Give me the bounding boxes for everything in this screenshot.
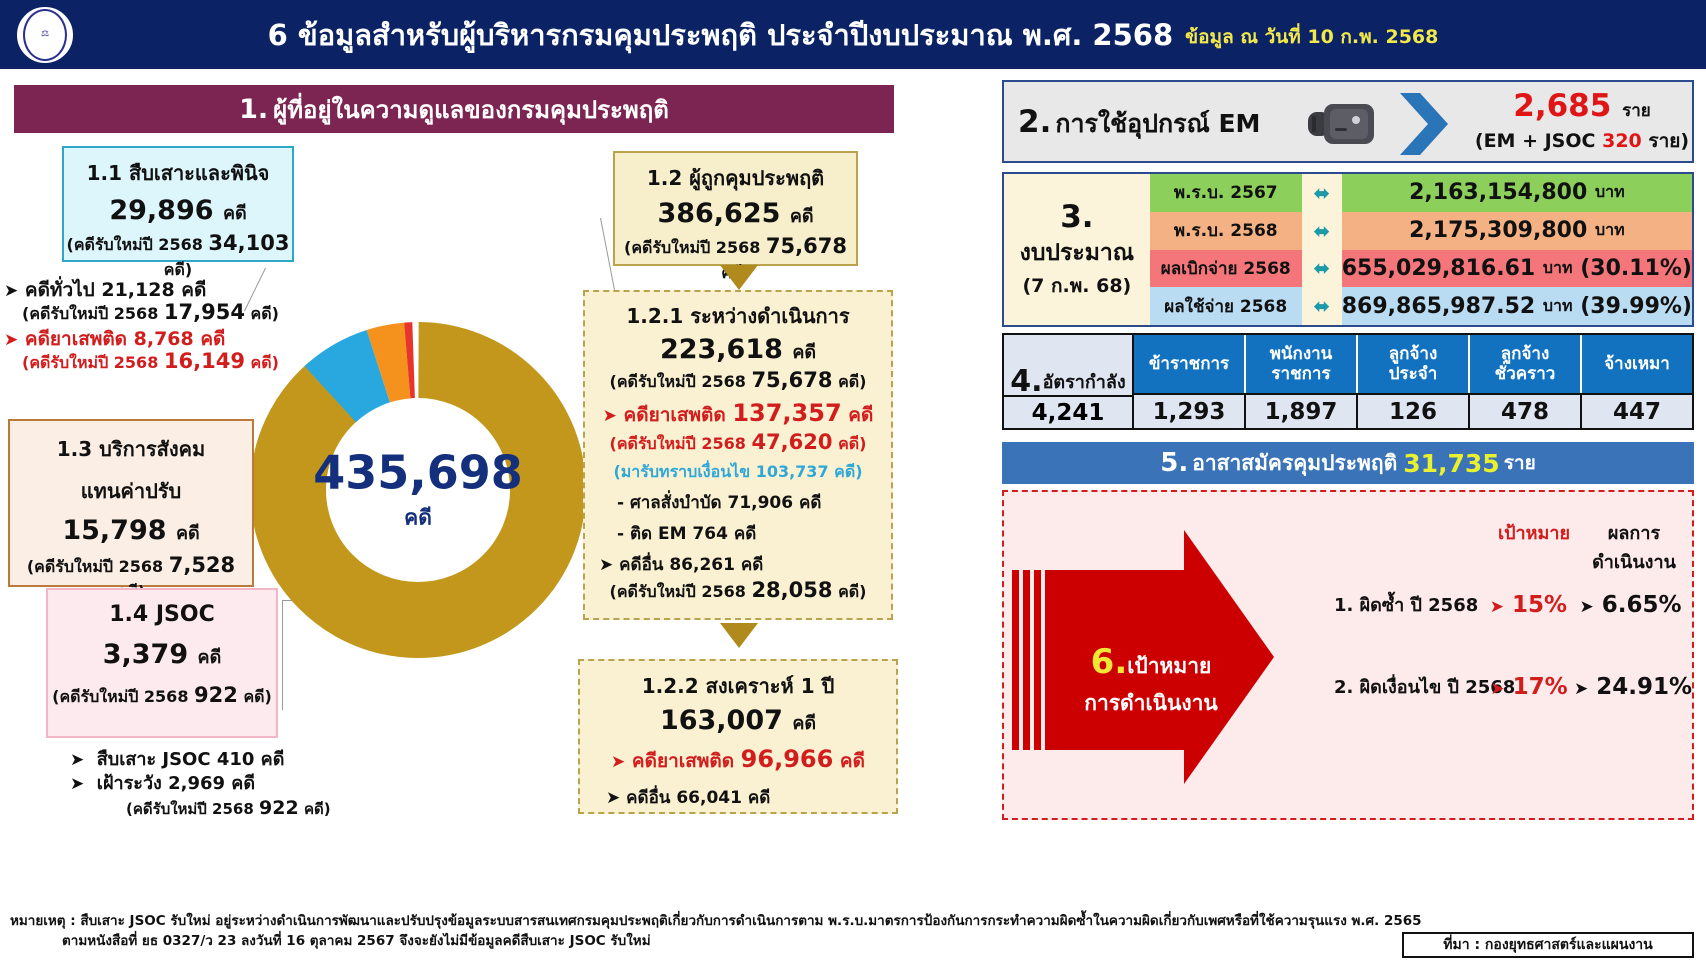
section4-header-row: ข้าราชการ พนักงาน ราชการ ลูกจ้าง ประจำ ล… (1134, 335, 1692, 393)
box-1-2-number: 386,625 (657, 198, 780, 229)
section4-values-row: 1,293 1,897 126 478 447 (1134, 393, 1692, 428)
footer-note-line-1: หมายเหตุ : สืบเสาะ JSOC รับใหม่ อยู่ระหว… (10, 912, 1430, 932)
box-1-2-2-number: 163,007 (660, 705, 783, 736)
arrow-right-red-icon: ➤ (1490, 679, 1504, 699)
section2-subvalue-row: (EM + JSOC 320 ราย) (1470, 126, 1694, 156)
header-line-1: ลูกจ้าง (1501, 344, 1550, 364)
box-1-2-2-title: 1.2.2 สงเคราะห์ 1 ปี (580, 670, 896, 702)
double-arrow-icon: ⬌ (1302, 181, 1342, 205)
staff-value-temporary-worker: 478 (1470, 395, 1582, 428)
section2-em-device: 2. การใช้อุปกรณ์ EM 2,685 ราย (1002, 80, 1694, 163)
box-1-1-investigation: 1.1 สืบเสาะและพินิจ 29,896 คดี (คดีรับให… (62, 146, 294, 262)
kpi-name: 2. ผิดเงื่อนไข ปี 2568 (1334, 672, 1484, 701)
kpi-row-recidivism: 1. ผิดซ้ำ ปี 2568 ➤ 15% ➤ 6.65% (1334, 590, 1684, 619)
box-1-2-note-prefix: (คดีรับใหม่ปี 2568 (624, 238, 760, 257)
budget-row-name: พ.ร.บ. 2567 (1150, 174, 1302, 212)
page-title: 6 ข้อมูลสำหรับผู้บริหารกรมคุมประพฤติ ประ… (268, 12, 1174, 58)
bullet-jsoc-note-suffix: คดี) (304, 800, 331, 818)
staff-total-value: 4,241 (1004, 395, 1134, 428)
arrow-right-red-icon: ➤ (4, 330, 18, 350)
section2-number: 2. (1018, 104, 1051, 140)
arrow-right-icon: ➤ (599, 555, 613, 575)
box-1-1-unit: คดี (223, 203, 247, 224)
box-1-1-title: 1.1 สืบเสาะและพินิจ (64, 157, 292, 189)
arrow-right-icon: ➤ (606, 788, 620, 808)
box-1-2-2-drug-label: คดียาเสพติด (632, 750, 734, 772)
section6-targets: 6.เป้าหมาย การดำเนินงาน เป้าหมาย ผลการดำ… (1002, 490, 1694, 820)
box-1-4-note-value: 922 (194, 683, 238, 707)
staff-col-header-permanent-worker: ลูกจ้าง ประจำ (1358, 335, 1470, 393)
kpi-result-value: 6.65% (1602, 592, 1682, 618)
section6-number: 6. (1091, 642, 1128, 682)
kpi-target-value: 17% (1513, 674, 1568, 700)
infographic-root: ⚖ 6 ข้อมูลสำหรับผู้บริหารกรมคุมประพฤติ ป… (0, 0, 1706, 960)
section3-title: งบประมาณ (1020, 235, 1135, 271)
bullet-drug-note-suffix: คดี) (251, 353, 279, 372)
box-1-2-1-other-note: (คดีรับใหม่ปี 2568 28,058 คดี) (591, 578, 885, 605)
box-1-1-note-prefix: (คดีรับใหม่ปี 2568 (67, 235, 203, 254)
budget-percent: (39.99%) (1580, 294, 1692, 319)
budget-amount: 869,865,987.52 (1342, 294, 1535, 319)
staff-value-outsourced: 447 (1582, 395, 1692, 428)
header-line-2: ราชการ (1271, 364, 1330, 384)
section2-title: การใช้อุปกรณ์ EM (1055, 104, 1260, 144)
box-1-2-1-other-note-value: 28,058 (751, 578, 832, 602)
kpi-result-value: 24.91% (1596, 674, 1692, 700)
box-1-1-number: 29,896 (109, 195, 213, 226)
kpi-header-target: เป้าหมาย (1484, 518, 1584, 576)
box-1-2-unit: คดี (790, 206, 814, 227)
box-1-2-1-drug-value: 137,357 (732, 399, 841, 427)
box-1-2-2-drug-value: 96,966 (741, 745, 834, 773)
table-row: ผลเบิกจ่าย 2568 ⬌ 655,029,816.61 บาท (30… (1150, 250, 1692, 288)
bullet-jsoc-note-value: 922 (259, 797, 299, 819)
box-1-4-jsoc: 1.4 JSOC 3,379 คดี (คดีรับใหม่ปี 2568 92… (46, 588, 278, 738)
bullet-jsoc-investigation-label: สืบเสาะ JSOC 410 คดี (97, 749, 285, 770)
section2-unit: ราย (1622, 101, 1651, 121)
box-1-2-1-drug-label: คดียาเสพติด (624, 404, 726, 426)
header-line-2: ประจำ (1389, 364, 1438, 384)
box-1-2-1-unit: คดี (792, 342, 816, 363)
box-1-4-title: 1.4 JSOC (48, 602, 276, 627)
box-1-3-value: 15,798 คดี (10, 515, 252, 547)
footer-notes: หมายเหตุ : สืบเสาะ JSOC รับใหม่ อยู่ระหว… (10, 912, 1430, 951)
flow-arrow-down-1 (720, 265, 758, 290)
page-header: ⚖ 6 ข้อมูลสำหรับผู้บริหารกรมคุมประพฤติ ป… (0, 0, 1706, 69)
staff-value-permanent-worker: 126 (1358, 395, 1470, 428)
bullet-drug-note-prefix: (คดีรับใหม่ปี 2568 (22, 353, 158, 372)
table-row: พ.ร.บ. 2567 ⬌ 2,163,154,800 บาท (1150, 174, 1692, 212)
box-1-2-note-value: 75,678 (766, 234, 847, 258)
budget-row-name: ผลเบิกจ่าย 2568 (1150, 250, 1302, 288)
budget-unit: บาท (1543, 294, 1573, 319)
section2-value-group: 2,685 ราย (EM + JSOC 320 ราย) (1470, 88, 1694, 156)
box-1-2-1-drug-note-prefix: (คดีรับใหม่ปี 2568 (610, 434, 746, 453)
bullet-jsoc-note-prefix: (คดีรับใหม่ปี 2568 (126, 800, 254, 818)
bullet-general-note-suffix: คดี) (251, 304, 279, 323)
table-row: ผลใช้จ่าย 2568 ⬌ 869,865,987.52 บาท (39.… (1150, 287, 1692, 325)
budget-row-name: พ.ร.บ. 2568 (1150, 212, 1302, 250)
box-1-2-1-in-progress: 1.2.1 ระหว่างดำเนินการ 223,618 คดี (คดีร… (583, 290, 893, 620)
section4-number: 4. (1010, 364, 1042, 399)
arrow-right-red-icon: ➤ (1490, 597, 1504, 617)
donut-center-label: 435,698 คดี (308, 446, 528, 535)
section6-title-2: การดำเนินงาน (1056, 687, 1246, 720)
kpi-result-cell: ➤ 24.91% (1574, 674, 1684, 700)
box-1-2-1-drug-note-value: 47,620 (751, 430, 832, 454)
box-1-2-value: 386,625 คดี (615, 198, 856, 230)
box-1-2-1-note: (คดีรับใหม่ปี 2568 75,678 คดี) (591, 368, 885, 395)
box-1-2-1-drug-note-suffix: คดี) (838, 434, 866, 453)
box-1-1-note: (คดีรับใหม่ปี 2568 34,103 คดี) (64, 231, 292, 283)
em-bracelet-icon (1304, 100, 1390, 148)
budget-row-amount-cell: 2,175,309,800 บาท (1342, 212, 1692, 250)
box-1-4-note: (คดีรับใหม่ปี 2568 922 คดี) (48, 683, 276, 710)
bullet-jsoc-monitoring-note: (คดีรับใหม่ปี 2568 922 คดี) (70, 797, 400, 821)
double-arrow-icon: ⬌ (1302, 256, 1342, 280)
section1-title: ผู้ที่อยู่ในความดูแลของกรมคุมประพฤติ (273, 90, 669, 129)
box-1-4-value: 3,379 คดี (48, 639, 276, 671)
box-1-2-1-subitem-court-treatment: - ศาลสั่งบำบัด 71,906 คดี (591, 489, 885, 516)
data-as-of-date: ข้อมูล ณ วันที่ 10 ก.พ. 2568 (1185, 17, 1438, 52)
box-1-2-1-other-row: ➤ คดีอื่น 86,261 คดี (591, 551, 885, 578)
box-1-2-2-welfare: 1.2.2 สงเคราะห์ 1 ปี 163,007 คดี ➤ คดียา… (578, 659, 898, 814)
section2-title-group: 2. การใช้อุปกรณ์ EM (1018, 104, 1260, 144)
section3-date: (7 ก.พ. 68) (1023, 271, 1132, 301)
kpi-result-cell: ➤ 6.65% (1577, 592, 1684, 618)
section3-label-group: 3. งบประมาณ (7 ก.พ. 68) (1004, 174, 1150, 325)
table-row: พ.ร.บ. 2568 ⬌ 2,175,309,800 บาท (1150, 212, 1692, 250)
section4-title: อัตรากำลัง (1043, 367, 1126, 396)
budget-amount: 2,175,309,800 (1409, 218, 1587, 243)
bullet-general-cases-note: (คดีรับใหม่ปี 2568 17,954 คดี) (4, 301, 304, 325)
section3-number: 3. (1060, 199, 1093, 235)
chevron-right-icon (1396, 91, 1450, 157)
bullet-general-cases-label: คดีทั่วไป 21,128 คดี (25, 279, 206, 301)
box-1-2-title: 1.2 ผู้ถูกคุมประพฤติ (615, 162, 856, 194)
kpi-header-result: ผลการดำเนินงาน (1584, 518, 1684, 576)
arrow-right-icon: ➤ (70, 750, 84, 770)
section2-sub-prefix: (EM + JSOC (1475, 130, 1596, 152)
box-1-3-title-line1: 1.3 บริการสังคม (10, 433, 252, 465)
section3-budget: 3. งบประมาณ (7 ก.พ. 68) พ.ร.บ. 2567 ⬌ 2,… (1002, 172, 1694, 327)
box-1-2-1-other-note-prefix: (คดีรับใหม่ปี 2568 (610, 582, 746, 601)
box-1-1-note-value: 34,103 (208, 231, 289, 255)
arrow-right-icon: ➤ (1574, 679, 1588, 699)
box-1-2-2-drug-row: ➤ คดียาเสพติด 96,966 คดี (580, 745, 896, 776)
section5-title: อาสาสมัครคุมประพฤติ (1192, 447, 1397, 480)
section1-number: 1. (239, 94, 268, 125)
bullet-general-note-value: 17,954 (164, 300, 245, 324)
section2-sub-value: 320 (1602, 130, 1642, 152)
budget-percent: (30.11%) (1580, 256, 1692, 281)
header-line-1: พนักงาน (1270, 344, 1333, 364)
header-line-1: ลูกจ้าง (1389, 344, 1438, 364)
box-1-3-number: 15,798 (62, 515, 166, 546)
kpi-row-condition-violation: 2. ผิดเงื่อนไข ปี 2568 ➤ 17% ➤ 24.91% (1334, 672, 1684, 701)
section6-title-1: เป้าหมาย (1127, 654, 1211, 678)
box-1-3-note-prefix: (คดีรับใหม่ปี 2568 (27, 557, 163, 576)
budget-amount: 655,029,816.61 (1342, 256, 1535, 281)
bullets-investigation-breakdown: ➤ คดีทั่วไป 21,128 คดี (คดีรับใหม่ปี 256… (4, 280, 304, 374)
section3-table: พ.ร.บ. 2567 ⬌ 2,163,154,800 บาท พ.ร.บ. 2… (1150, 174, 1692, 325)
box-1-2-1-number: 223,618 (660, 334, 783, 365)
box-1-2-1-value: 223,618 คดี (591, 334, 885, 366)
box-1-2-1-conditions-line: (มารับทราบเงื่อนไข 103,737 คดี) (591, 460, 885, 485)
bullet-general-cases: ➤ คดีทั่วไป 21,128 คดี (4, 280, 304, 301)
staff-value-civil-servant: 1,293 (1134, 395, 1246, 428)
box-1-2-1-drug-note: (คดีรับใหม่ปี 2568 47,620 คดี) (591, 430, 885, 457)
kpi-target-cell: ➤ 15% (1480, 592, 1577, 618)
staff-value-govt-employee: 1,897 (1246, 395, 1358, 428)
bullet-drug-cases-note: (คดีรับใหม่ปี 2568 16,149 คดี) (4, 350, 304, 374)
kpi-name-spacer (1334, 518, 1484, 576)
box-1-3-title-line2: แทนค่าปรับ (10, 475, 252, 507)
header-title-group: 6 ข้อมูลสำหรับผู้บริหารกรมคุมประพฤติ ประ… (0, 0, 1706, 69)
box-1-2-1-other-note-suffix: คดี) (838, 582, 866, 601)
box-1-1-value: 29,896 คดี (64, 195, 292, 227)
section6-column-headers: เป้าหมาย ผลการดำเนินงาน (1334, 518, 1684, 576)
flow-arrow-down-2 (720, 623, 758, 648)
box-1-3-unit: คดี (176, 523, 200, 544)
arrow-right-icon: ➤ (70, 774, 84, 794)
box-1-2-2-unit: คดี (792, 713, 816, 734)
budget-unit: บาท (1595, 180, 1625, 205)
footer-note-line-2: ตามหนังสือที่ ยธ 0327/ว 23 ลงวันที่ 16 ต… (10, 932, 1430, 952)
box-1-2-1-other-label: คดีอื่น 86,261 คดี (619, 555, 763, 575)
section2-value: 2,685 (1513, 88, 1611, 124)
section2-sub-suffix: ราย) (1648, 130, 1689, 152)
bullet-drug-cases-label: คดียาเสพติด 8,768 คดี (25, 328, 226, 350)
box-1-3-community-service: 1.3 บริการสังคม แทนค่าปรับ 15,798 คดี (ค… (8, 419, 254, 587)
bullet-jsoc-monitoring-label: เฝ้าระวัง 2,969 คดี (97, 773, 255, 794)
box-1-4-note-suffix: คดี) (243, 687, 271, 706)
bullet-general-note-prefix: (คดีรับใหม่ปี 2568 (22, 304, 158, 323)
box-1-4-number: 3,379 (103, 639, 188, 670)
header-line-1: ข้าราชการ (1149, 354, 1229, 374)
section2-value-row: 2,685 ราย (1470, 88, 1694, 124)
bullet-drug-note-value: 16,149 (164, 349, 245, 373)
kpi-target-cell: ➤ 17% (1484, 674, 1574, 700)
budget-row-amount-cell: 869,865,987.52 บาท (39.99%) (1342, 287, 1692, 325)
header-line-2: ชั่วคราว (1495, 364, 1556, 384)
box-1-4-unit: คดี (198, 647, 222, 668)
bullets-jsoc-breakdown: ➤ สืบเสาะ JSOC 410 คดี ➤ เฝ้าระวัง 2,969… (70, 748, 400, 821)
bullet-jsoc-investigation: ➤ สืบเสาะ JSOC 410 คดี (70, 748, 400, 772)
section1-banner: 1. ผู้ที่อยู่ในความดูแลของกรมคุมประพฤติ (14, 85, 894, 133)
donut-total-unit: คดี (308, 502, 528, 535)
staff-col-header-outsourced: จ้างเหมา (1582, 335, 1692, 393)
header-line-1: จ้างเหมา (1604, 354, 1670, 374)
budget-amount: 2,163,154,800 (1409, 180, 1587, 205)
box-1-2-2-other-row: ➤ คดีอื่น 66,041 คดี (580, 784, 896, 811)
kpi-name: 1. ผิดซ้ำ ปี 2568 (1334, 590, 1480, 619)
section6-title-line-1: 6.เป้าหมาย (1056, 642, 1246, 683)
arrow-right-icon: ➤ (1579, 597, 1593, 617)
arrow-right-icon: ➤ (4, 281, 18, 301)
staff-col-header-temporary-worker: ลูกจ้าง ชั่วคราว (1470, 335, 1582, 393)
bullet-jsoc-monitoring: ➤ เฝ้าระวัง 2,969 คดี (70, 772, 400, 796)
box-1-2-1-subitem-em: - ติด EM 764 คดี (591, 520, 885, 547)
staff-col-header-civil-servant: ข้าราชการ (1134, 335, 1246, 393)
box-1-2-2-other-label: คดีอื่น 66,041 คดี (626, 788, 770, 808)
box-1-2-1-title: 1.2.1 ระหว่างดำเนินการ (591, 300, 885, 332)
box-1-2-2-value: 163,007 คดี (580, 705, 896, 737)
section4-table: ข้าราชการ พนักงาน ราชการ ลูกจ้าง ประจำ ล… (1134, 335, 1692, 428)
budget-row-name: ผลใช้จ่าย 2568 (1150, 287, 1302, 325)
box-1-2-2-drug-unit: คดี (840, 750, 865, 772)
arrow-right-red-icon: ➤ (603, 406, 617, 426)
box-1-2-probationers: 1.2 ผู้ถูกคุมประพฤติ 386,625 คดี (คดีรับ… (613, 151, 858, 266)
box-1-2-1-drug-unit: คดี (848, 404, 873, 426)
donut-total-value: 435,698 (308, 446, 528, 500)
budget-row-amount-cell: 655,029,816.61 บาท (30.11%) (1342, 250, 1692, 288)
double-arrow-icon: ⬌ (1302, 219, 1342, 243)
section5-volunteers: 5. อาสาสมัครคุมประพฤติ 31,735 ราย (1002, 442, 1694, 484)
budget-row-amount-cell: 2,163,154,800 บาท (1342, 174, 1692, 212)
section5-number: 5. (1160, 448, 1188, 478)
double-arrow-icon: ⬌ (1302, 294, 1342, 318)
section5-unit: ราย (1504, 448, 1536, 478)
box-1-1-note-suffix: คดี) (164, 260, 192, 279)
section5-value: 31,735 (1403, 449, 1499, 478)
budget-unit: บาท (1595, 218, 1625, 243)
section6-label-group: 6.เป้าหมาย การดำเนินงาน (1056, 642, 1246, 720)
footer-source-box: ที่มา : กองยุทธศาสตร์และแผนงาน (1402, 932, 1694, 958)
box-1-4-note-prefix: (คดีรับใหม่ปี 2568 (52, 687, 188, 706)
box-1-2-1-drug-row: ➤ คดียาเสพติด 137,357 คดี (591, 399, 885, 430)
box-1-2-1-note-suffix: คดี) (838, 372, 866, 391)
box-1-2-1-note-prefix: (คดีรับใหม่ปี 2568 (610, 372, 746, 391)
arrow-right-red-icon: ➤ (611, 752, 625, 772)
budget-unit: บาท (1543, 256, 1573, 281)
box-1-3-note-value: 7,528 (169, 553, 235, 577)
box-1-2-1-note-value: 75,678 (751, 368, 832, 392)
kpi-target-value: 15% (1512, 592, 1567, 618)
staff-col-header-govt-employee: พนักงาน ราชการ (1246, 335, 1358, 393)
bullet-drug-cases: ➤ คดียาเสพติด 8,768 คดี (4, 329, 304, 350)
